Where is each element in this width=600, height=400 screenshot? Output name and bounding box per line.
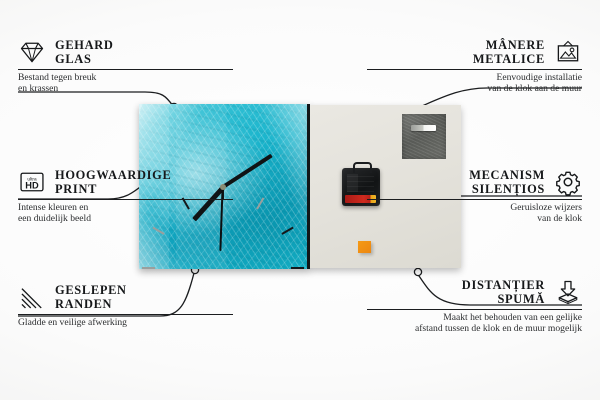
callout-divider — [367, 309, 582, 310]
callout-title: GEHARD GLAS — [55, 38, 114, 66]
callout-subtitle-line2: van de klok aan de muur — [367, 83, 582, 94]
diamond-icon — [18, 38, 46, 66]
callout-hd-print: ultra HD HOOGWAARDIGE PRINT Intense kleu… — [18, 168, 233, 225]
metal-hanger-plate — [402, 114, 446, 159]
callout-subtitle-line2: van de klok — [367, 213, 582, 224]
ultra-hd-icon: ultra HD — [18, 168, 46, 196]
picture-hanging-icon — [554, 38, 582, 66]
callout-polished-edges: GESLEPEN RANDEN Gladde en veilige afwerk… — [18, 283, 233, 328]
callout-divider — [18, 69, 233, 70]
callout-divider — [18, 199, 233, 200]
hanger-slot — [411, 125, 436, 131]
clock-tick — [291, 267, 304, 269]
callout-header: MECANISM SILENȚIOS — [367, 168, 582, 196]
foam-spacer — [358, 241, 371, 253]
callout-title: DISTANȚIER SPUMĂ — [462, 278, 545, 306]
callout-header: MÂNERE METALICE — [367, 38, 582, 66]
callout-divider — [367, 199, 582, 200]
callout-header: DISTANȚIER SPUMĂ — [367, 278, 582, 306]
callout-foam-spacer: DISTANȚIER SPUMĂ Maakt het behouden van … — [367, 278, 582, 335]
callout-subtitle-line2: een duidelijk beeld — [18, 213, 233, 224]
callout-divider — [18, 314, 233, 315]
callout-tempered-glass: GEHARD GLAS Bestand tegen breuk en krass… — [18, 38, 233, 95]
gear-icon — [554, 168, 582, 196]
callout-title: GESLEPEN RANDEN — [55, 283, 127, 311]
clock-tick — [256, 197, 264, 209]
press-down-pad-icon — [554, 278, 582, 306]
connector-dot-foam-spacer — [414, 268, 421, 275]
clock-tick — [281, 226, 293, 234]
callout-subtitle-line2: afstand tussen de klok en de muur mogeli… — [367, 323, 582, 334]
callout-silent-mechanism: MECANISM SILENȚIOS Geruisloze wijzers va… — [367, 168, 582, 225]
callout-title: MÂNERE METALICE — [473, 38, 545, 66]
callout-header: GESLEPEN RANDEN — [18, 283, 233, 311]
callout-divider — [367, 69, 582, 70]
infographic-canvas: GEHARD GLAS Bestand tegen breuk en krass… — [0, 0, 600, 400]
callout-header: ultra HD HOOGWAARDIGE PRINT — [18, 168, 233, 196]
callout-metal-handles: MÂNERE METALICE Eenvoudige installatie v… — [367, 38, 582, 95]
callout-subtitle-line1: Bestand tegen breuk — [18, 72, 233, 83]
callout-subtitle-line1: Intense kleuren en — [18, 202, 233, 213]
callout-subtitle-line1: Gladde en veilige afwerking — [18, 317, 233, 328]
callout-subtitle-line2: en krassen — [18, 83, 233, 94]
clock-tick — [142, 267, 155, 269]
clock-tick — [152, 226, 164, 234]
callout-header: GEHARD GLAS — [18, 38, 233, 66]
callout-subtitle-line1: Geruisloze wijzers — [367, 202, 582, 213]
callout-title: HOOGWAARDIGE PRINT — [55, 168, 171, 196]
bevelled-edge-icon — [18, 283, 46, 311]
ultra-hd-icon-large-label: HD — [25, 180, 39, 190]
callout-subtitle-line1: Eenvoudige installatie — [367, 72, 582, 83]
callout-title: MECANISM SILENȚIOS — [469, 168, 545, 196]
callout-subtitle-line1: Maakt het behouden van een gelijke — [367, 312, 582, 323]
